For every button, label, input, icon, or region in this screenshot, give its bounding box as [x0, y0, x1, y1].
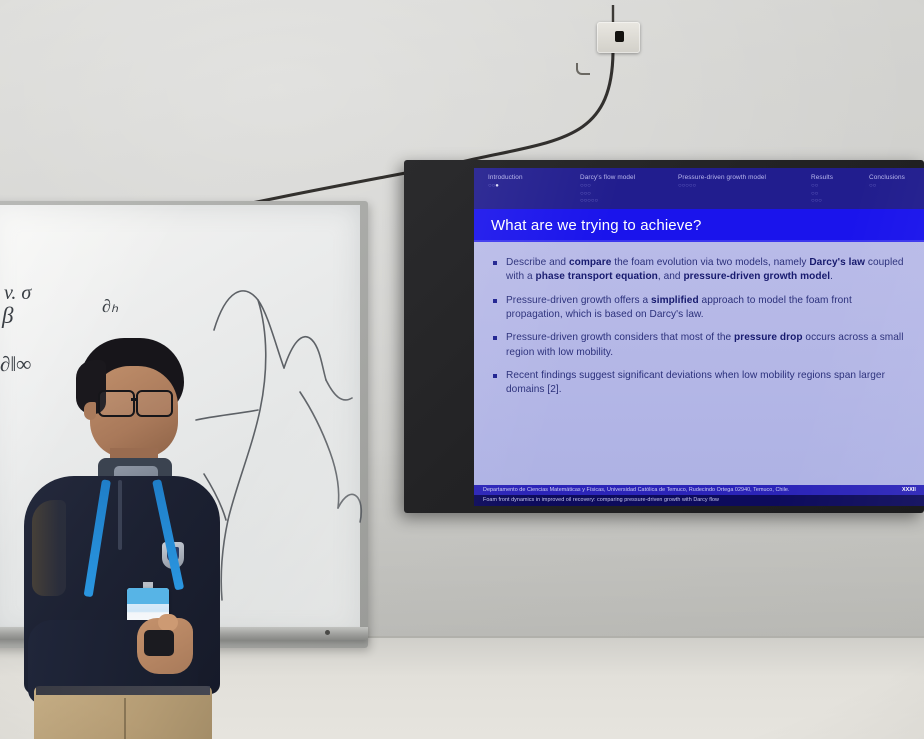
eyeglasses-left-lens	[98, 390, 135, 417]
slide-content-area: Describe and compare the foam evolution …	[474, 242, 924, 485]
presenter-thumb	[158, 614, 178, 631]
small-wall-wire	[576, 63, 590, 75]
tray-screw	[325, 630, 330, 635]
nav-label-conclusions: Conclusions	[869, 174, 905, 182]
lecture-room-photo: v. σ β ∂‖∞ ∂ₕ Introduction ○○● Darcy's f…	[0, 0, 924, 739]
slide-title-bar: What are we trying to achieve?	[474, 209, 924, 242]
nav-section-results[interactable]: Results ○○○○○○○	[811, 174, 833, 206]
outlet-socket-hole	[615, 31, 624, 42]
slide-bullet-2: Pressure-driven growth offers a simplifi…	[490, 294, 908, 323]
nav-section-conclusions[interactable]: Conclusions ○○	[869, 174, 905, 191]
eyeglasses-bridge	[131, 398, 137, 401]
trouser-pleat	[124, 698, 126, 739]
badge-header-band	[127, 588, 169, 604]
sweater-zipper	[118, 480, 122, 550]
footer-affiliation-text: Departamento de Ciencias Matemáticas y F…	[483, 487, 790, 493]
slide-footer-subtitle: Foam front dynamics in improved oil reco…	[474, 495, 924, 506]
wall-power-outlet	[597, 22, 640, 53]
whiteboard-note-1: β	[2, 303, 13, 329]
presentation-remote	[144, 630, 174, 656]
slide-bullet-4: Recent findings suggest significant devi…	[490, 369, 908, 398]
nav-dots-results: ○○○○○○○	[811, 183, 833, 206]
presenter-belt	[36, 686, 210, 695]
nav-label-pressure-driven: Pressure-driven growth model	[678, 174, 766, 182]
whiteboard-note-0: v. σ	[4, 282, 31, 305]
presenter-ear	[84, 402, 96, 420]
nav-section-introduction[interactable]: Introduction ○○●	[488, 174, 523, 191]
nav-label-results: Results	[811, 174, 833, 182]
eyeglasses-right-lens	[136, 390, 173, 417]
presentation-slide: Introduction ○○● Darcy's flow model ○○○○…	[474, 168, 924, 506]
slide-bullet-1: Describe and compare the foam evolution …	[490, 256, 908, 285]
nav-dots-pressure-driven: ○○○○○	[678, 183, 766, 191]
nav-section-pressure-driven[interactable]: Pressure-driven growth model ○○○○○	[678, 174, 766, 191]
slide-title-text: What are we trying to achieve?	[491, 217, 701, 234]
slide-footer: Departamento de Ciencias Matemáticas y F…	[474, 485, 924, 506]
slide-bullet-3: Pressure-driven growth considers that mo…	[490, 331, 908, 360]
slide-navigation-bar: Introduction ○○● Darcy's flow model ○○○○…	[474, 168, 924, 209]
nav-section-darcy[interactable]: Darcy's flow model ○○○○○○○○○○○	[580, 174, 635, 206]
slide-bullet-list: Describe and compare the foam evolution …	[490, 256, 908, 398]
footer-badge-text: XXXII	[902, 487, 916, 493]
slide-footer-affiliation-row: Departamento de Ciencias Matemáticas y F…	[474, 485, 924, 495]
nav-label-darcy: Darcy's flow model	[580, 174, 635, 182]
nav-dots-introduction: ○○●	[488, 183, 523, 191]
presenter-bag-strap	[32, 500, 66, 596]
nav-dots-darcy: ○○○○○○○○○○○	[580, 183, 635, 206]
whiteboard-note-3: ∂ₕ	[102, 296, 118, 317]
nav-label-introduction: Introduction	[488, 174, 523, 182]
tv-screen: Introduction ○○● Darcy's flow model ○○○○…	[474, 168, 924, 506]
presenter	[6, 330, 256, 739]
nav-dots-conclusions: ○○	[869, 183, 905, 191]
